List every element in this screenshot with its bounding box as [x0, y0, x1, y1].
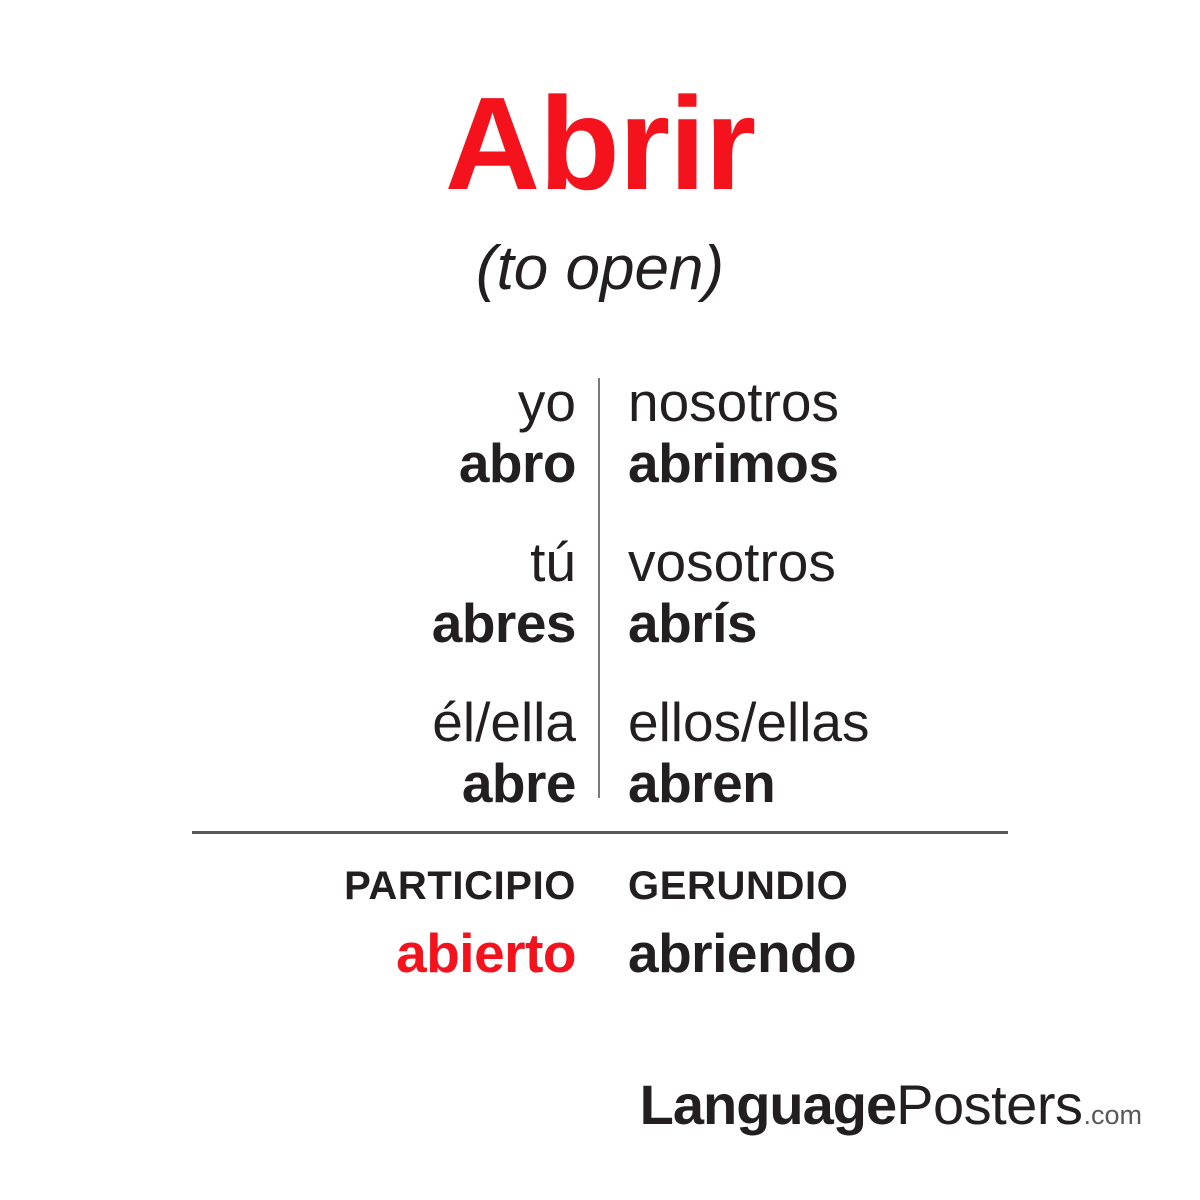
gerundio-value: abriendo: [628, 914, 1200, 992]
nonfinite-forms-section: PARTICIPIO GERUNDIO abierto abriendo: [0, 858, 1200, 992]
brand-tld: .com: [1083, 1100, 1142, 1130]
section-divider-rule: [192, 831, 1008, 834]
pronoun-nosotros: nosotros: [628, 372, 1200, 433]
pronoun-yo: yo: [0, 372, 576, 433]
conjugation-table: yo nosotros abro abrimos tú vosotros abr…: [0, 372, 1200, 802]
pronoun-el-ella: él/ella: [0, 692, 576, 753]
pronoun-vosotros: vosotros: [628, 532, 1200, 593]
brand-logo[interactable]: LanguagePosters.com: [640, 1076, 1142, 1134]
participio-label: PARTICIPIO: [0, 858, 576, 914]
conjugation-grid: yo nosotros abro abrimos tú vosotros abr…: [0, 372, 1200, 814]
poster-header: Abrir (to open): [0, 78, 1200, 300]
form-el-ella: abre: [0, 753, 576, 814]
verb-conjugation-poster: Abrir (to open) yo nosotros abro abrimos…: [0, 0, 1200, 1200]
gerundio-label: GERUNDIO: [628, 858, 1200, 914]
form-ellos-ellas: abren: [628, 753, 1200, 814]
form-vosotros: abrís: [628, 593, 1200, 654]
participio-value: abierto: [0, 914, 576, 992]
form-tu: abres: [0, 593, 576, 654]
pronoun-tu: tú: [0, 532, 576, 593]
verb-translation: (to open): [0, 238, 1200, 300]
row-spacer: [0, 654, 1200, 692]
verb-title: Abrir: [0, 78, 1200, 210]
brand-name-primary: Language: [640, 1076, 896, 1134]
row-spacer: [0, 494, 1200, 532]
form-yo: abro: [0, 433, 576, 494]
brand-name-secondary: Posters: [896, 1076, 1082, 1134]
pronoun-ellos-ellas: ellos/ellas: [628, 692, 1200, 753]
form-nosotros: abrimos: [628, 433, 1200, 494]
